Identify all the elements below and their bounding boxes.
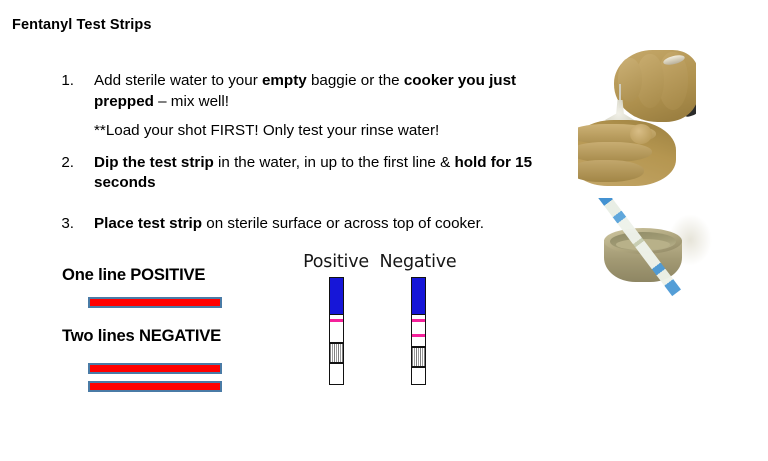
strip-test-line-2 <box>412 334 425 337</box>
step-text-part: baggie or the <box>307 72 404 89</box>
strip-divider <box>412 366 425 368</box>
strip-blue-pad <box>330 278 343 315</box>
strip-test-line-1 <box>412 319 425 322</box>
spacer <box>48 194 548 214</box>
legend-negative-bar-1 <box>88 363 222 374</box>
strip-across-cooker-photo <box>592 198 720 316</box>
page-title: Fentanyl Test Strips <box>12 17 152 33</box>
strip-test-line-1 <box>330 319 343 322</box>
list-item-step-1: 1. Add sterile water to your empty baggi… <box>48 71 548 112</box>
step-number: 2. <box>52 153 74 174</box>
test-strip-diagram: Positive Negative <box>296 252 476 392</box>
negative-strip-graphic <box>411 277 426 385</box>
strip-hatched-zone <box>330 344 343 362</box>
legend-negative-label: Two lines NEGATIVE <box>62 326 302 346</box>
step-text-part-bold: Dip the test strip <box>94 154 214 171</box>
step-text-part: Add sterile water to your <box>94 72 262 89</box>
lower-hand-thumb-tip <box>630 124 652 144</box>
legend-positive-label: One line POSITIVE <box>62 265 302 285</box>
strip-divider <box>330 362 343 364</box>
step-text: Place test strip on sterile surface or a… <box>94 215 484 232</box>
result-legend: One line POSITIVE Two lines NEGATIVE <box>62 265 302 392</box>
list-item-step-2: 2. Dip the test strip in the water, in u… <box>48 153 548 194</box>
step-text-part: on sterile surface or across top of cook… <box>202 215 484 232</box>
step-number: 1. <box>52 71 74 92</box>
lower-hand-finger <box>578 160 644 182</box>
legend-negative-bar-2 <box>88 381 222 392</box>
hands-preparing-shot-photo <box>578 50 696 188</box>
step-text: Dip the test strip in the water, in up t… <box>94 154 532 192</box>
step-1-note: **Load your shot FIRST! Only test your r… <box>48 121 548 142</box>
step-text-part: in the water, in up to the first line & <box>214 154 455 171</box>
lower-hand-finger <box>578 142 652 162</box>
step-text: Add sterile water to your empty baggie o… <box>94 72 516 110</box>
spacer <box>48 142 548 153</box>
strip-hatched-zone <box>412 348 425 366</box>
negative-strip-caption: Negative <box>378 252 458 272</box>
step-text-part-bold: Place test strip <box>94 215 202 232</box>
list-item-step-3: 3. Place test strip on sterile surface o… <box>48 214 548 235</box>
spacer <box>48 112 548 121</box>
strip-blue-pad <box>412 278 425 315</box>
positive-strip-column: Positive <box>296 252 376 385</box>
positive-strip-caption: Positive <box>296 252 376 272</box>
step-text-part-bold: empty <box>262 72 307 89</box>
upper-hand-finger <box>618 58 642 102</box>
step-number: 3. <box>52 214 74 235</box>
step-text-part: – mix well! <box>154 93 229 110</box>
positive-strip-graphic <box>329 277 344 385</box>
slide-canvas: Fentanyl Test Strips 1. Add sterile wate… <box>0 0 768 461</box>
negative-strip-column: Negative <box>378 252 458 385</box>
legend-positive-bar <box>88 297 222 308</box>
instruction-list: 1. Add sterile water to your empty baggi… <box>48 71 548 234</box>
